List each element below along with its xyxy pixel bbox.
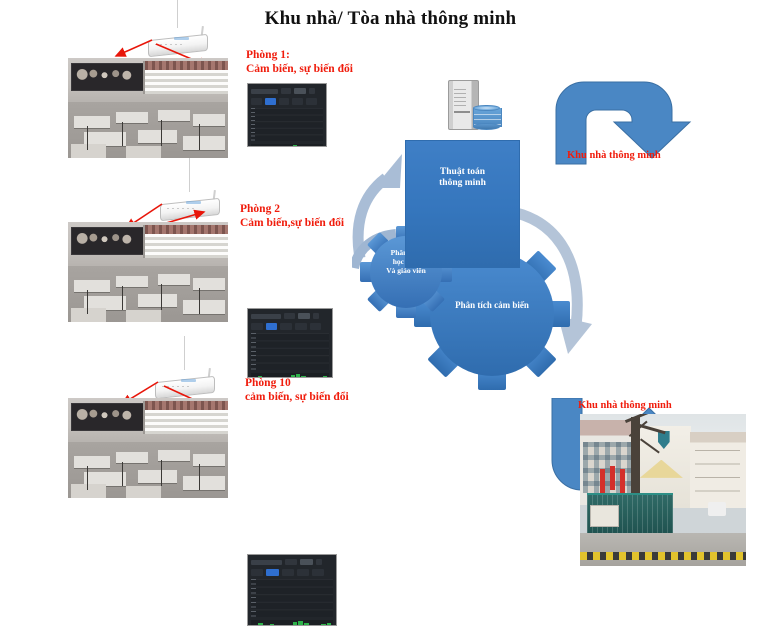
chart-tab[interactable]: [251, 569, 263, 576]
chart-plot-area: [251, 333, 329, 370]
classroom-desk: [138, 130, 176, 143]
chart-toolbar: [251, 558, 333, 566]
room-label-room-2: Phòng 2 Cảm biến,sự biến đổi: [240, 202, 344, 230]
chart-tab[interactable]: [295, 323, 307, 330]
classroom-desk: [193, 278, 225, 290]
chart-plot-area: [251, 579, 333, 617]
desk-leg: [122, 122, 123, 146]
sensor-dashboard-chart-room-10[interactable]: [247, 554, 337, 626]
server-drive-slot: [454, 111, 470, 113]
chart-tab[interactable]: [251, 98, 262, 105]
classroom-desk: [116, 452, 148, 463]
classroom-window: [143, 225, 228, 258]
chart-tab-active[interactable]: [266, 323, 278, 330]
classroom-desk: [158, 274, 190, 285]
desk-leg: [161, 120, 162, 146]
chart-control[interactable]: [309, 88, 315, 94]
chart-bars: [256, 333, 328, 370]
diagram-canvas: Khu nhà/ Tòa nhà thông minh: [0, 0, 781, 505]
output-label-top: Khu nhà thông minh: [567, 150, 661, 161]
sensor-dashboard-chart-room-2[interactable]: [247, 308, 333, 378]
chart-toolbar: [251, 87, 323, 95]
desk-leg: [199, 124, 200, 150]
room-label-line1: Phòng 2: [240, 202, 344, 216]
classroom-blackboard: [71, 227, 143, 255]
desk-leg: [87, 290, 88, 314]
navigator-bar: [293, 622, 298, 626]
room-label-line1: Phòng 10: [245, 376, 349, 390]
chart-tab[interactable]: [282, 569, 294, 576]
classroom-desk: [193, 454, 225, 466]
building-right: [690, 432, 746, 508]
chart-control[interactable]: [285, 559, 296, 565]
navigator-bar: [288, 146, 292, 147]
desk-leg: [122, 462, 123, 486]
classroom-chair: [71, 484, 106, 498]
classroom-desk: [183, 476, 225, 490]
desk-leg: [199, 464, 200, 490]
chart-control[interactable]: [316, 559, 323, 565]
chart-navigator[interactable]: [251, 144, 323, 147]
chart-tabs[interactable]: [251, 323, 329, 330]
parked-car: [708, 502, 726, 516]
output-label-bottom: Khu nhà thông minh: [578, 400, 672, 411]
classroom-photo-room-2: [68, 222, 228, 322]
room-label-line2: Cảm biến,sự biến đổi: [240, 216, 344, 230]
chart-tab[interactable]: [251, 323, 263, 330]
classroom-photo-room-1: [68, 58, 228, 158]
chart-plot-area: [251, 108, 323, 141]
school-signboard: [590, 505, 619, 527]
room-label-room-1: Phòng 1: Cảm biến, sự biến đổi: [246, 48, 353, 76]
school-building-photo: [580, 414, 746, 566]
classroom-chair: [71, 144, 106, 158]
chart-tab[interactable]: [279, 98, 290, 105]
server-database-icon: [448, 80, 500, 132]
chart-bars: [255, 108, 321, 141]
chart-title-bar: [251, 560, 282, 565]
classroom-chair: [126, 486, 161, 498]
chart-tab[interactable]: [280, 323, 292, 330]
chart-control[interactable]: [294, 88, 306, 94]
chart-tab[interactable]: [310, 323, 322, 330]
classroom-desk: [74, 116, 109, 128]
classroom-desk: [183, 136, 225, 150]
desk-leg: [122, 286, 123, 310]
classroom-desk: [138, 470, 176, 483]
chart-control[interactable]: [281, 88, 291, 94]
chart-control[interactable]: [284, 313, 295, 319]
sensor-dashboard-chart-room-1[interactable]: [247, 83, 327, 147]
chart-bars: [256, 579, 331, 617]
chart-tab-active[interactable]: [266, 569, 278, 576]
chart-tabs[interactable]: [251, 569, 333, 576]
router-cable: [177, 0, 178, 28]
flag: [610, 466, 615, 490]
road: [580, 533, 746, 566]
classroom-desk: [193, 114, 225, 126]
flag: [620, 469, 625, 493]
room-label-room-10: Phòng 10 cảm biến, sự biến đổi: [245, 376, 349, 404]
page-title: Khu nhà/ Tòa nhà thông minh: [0, 8, 781, 30]
classroom-blackboard: [71, 63, 143, 91]
classroom-chair: [126, 146, 161, 158]
chart-tab[interactable]: [312, 569, 324, 576]
classroom-desk: [74, 456, 109, 468]
database-cylinder-icon: [473, 105, 500, 130]
classroom-window: [143, 401, 228, 434]
chart-control[interactable]: [313, 313, 319, 319]
classroom-chair: [71, 308, 106, 322]
chart-navigator-bars: [253, 621, 332, 626]
room-label-line2: Cảm biến, sự biến đổi: [246, 62, 353, 76]
desk-leg: [199, 288, 200, 314]
smart-algorithm-box[interactable]: Thuật toán thông minh: [405, 140, 520, 268]
classroom-photo-room-10: [68, 398, 228, 498]
chart-title-bar: [251, 89, 278, 94]
navigator-bar: [293, 145, 297, 147]
classroom-desk: [116, 276, 148, 287]
chart-title-bar: [251, 314, 281, 319]
room-label-line2: cảm biến, sự biến đổi: [245, 390, 349, 404]
classroom-blackboard: [71, 403, 143, 431]
router-cable: [184, 336, 185, 370]
smart-algorithm-label: Thuật toán thông minh: [439, 167, 486, 189]
classroom-window: [143, 61, 228, 94]
desk-leg: [87, 466, 88, 490]
classroom-desk: [74, 280, 109, 292]
classroom-desk: [138, 294, 176, 307]
chart-tab[interactable]: [292, 98, 303, 105]
flag: [600, 469, 605, 493]
navigator-bar: [298, 621, 303, 626]
desk-leg: [87, 126, 88, 150]
classroom-desk: [183, 300, 225, 314]
chart-navigator[interactable]: [251, 620, 333, 626]
chart-tab[interactable]: [297, 569, 309, 576]
kerb-markings: [580, 552, 746, 560]
classroom-desk: [158, 450, 190, 461]
chart-tab-active[interactable]: [265, 98, 276, 105]
router-cable: [189, 158, 190, 192]
chart-control[interactable]: [298, 313, 310, 319]
room-label-line1: Phòng 1:: [246, 48, 353, 62]
chart-tabs[interactable]: [251, 98, 323, 105]
desk-leg: [161, 460, 162, 486]
database-base: [473, 123, 500, 129]
classroom-desk: [116, 112, 148, 123]
chart-tab[interactable]: [306, 98, 317, 105]
desk-leg: [161, 284, 162, 310]
classroom-chair: [126, 310, 161, 322]
chart-control[interactable]: [300, 559, 313, 565]
chart-toolbar: [251, 312, 329, 320]
chart-navigator-bars: [252, 145, 321, 147]
classroom-desk: [158, 110, 190, 121]
